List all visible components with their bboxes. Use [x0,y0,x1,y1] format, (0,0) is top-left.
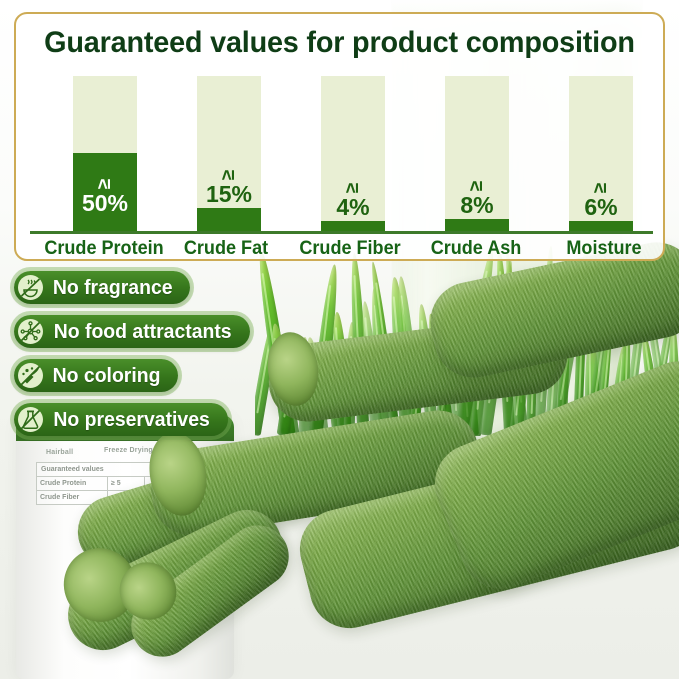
bar-column: ≥8% [445,76,509,231]
bar-column: ≥6% [569,76,633,231]
greater-equal-symbol: ≥ [98,152,112,216]
feature-list: No fragrance No food attractants [14,271,250,447]
bar-fill [321,221,385,231]
feature-label: No food attractants [54,322,232,342]
bar-column: ≥4% [321,76,385,231]
bar-fill [197,208,261,231]
no-coloring-icon [18,363,43,388]
bar-value-label: ≥8% [445,179,509,217]
greater-equal-symbol: ≥ [470,154,484,218]
bar-value-label: ≥15% [197,168,261,206]
x-axis-label: Moisture [528,238,665,260]
feature-label: No coloring [53,366,161,386]
no-preservatives-icon [18,407,43,432]
feature-no-preservatives[interactable]: No preservatives [14,403,228,436]
bar-fill [445,219,509,231]
chart-axis-line [30,231,653,234]
bar-value-label: ≥6% [569,181,633,219]
greater-equal-symbol: ≥ [346,156,360,220]
no-fragrance-icon [18,275,43,300]
bar-column: ≥50% [73,76,137,231]
feature-label: No fragrance [53,278,173,298]
product-infographic: Hairball Freeze Drying Imp Guaranteed va… [0,0,679,679]
greater-equal-symbol: ≥ [594,156,608,220]
composition-card: Guaranteed values for product compositio… [14,12,665,261]
page-title: Guaranteed values for product compositio… [29,26,650,60]
no-food-attractants-icon [18,319,43,344]
feature-no-food-attractants[interactable]: No food attractants [14,315,250,348]
bar-chart-plot: ≥50%≥15%≥4%≥8%≥6% [32,76,651,231]
bar-fill [569,221,633,231]
feature-no-fragrance[interactable]: No fragrance [14,271,190,304]
greater-equal-symbol: ≥ [222,143,236,207]
bar-column: ≥15% [197,76,261,231]
feature-label: No preservatives [53,410,209,430]
feature-no-coloring[interactable]: No coloring [14,359,178,392]
bar-value-label: ≥50% [73,177,137,215]
bar-value-label: ≥4% [321,181,385,219]
